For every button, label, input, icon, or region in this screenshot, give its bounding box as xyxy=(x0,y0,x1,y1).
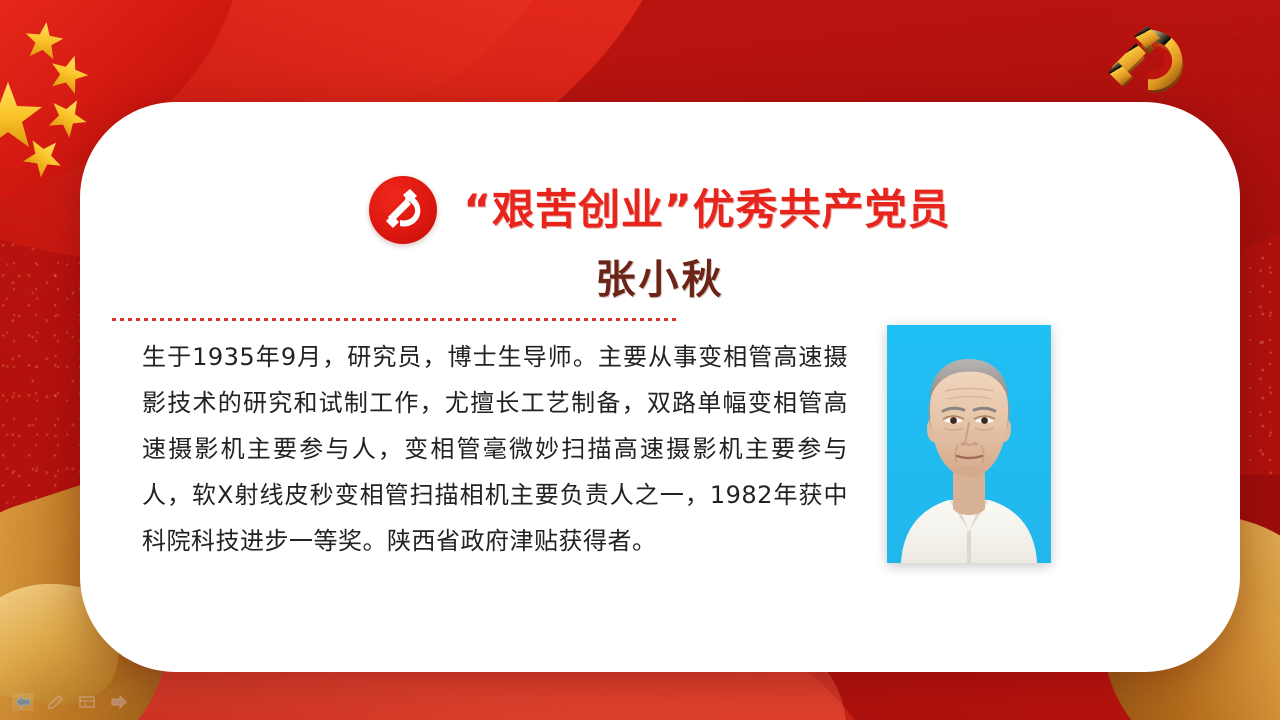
page-subtitle: 张小秋 xyxy=(80,260,1240,300)
party-emblem-gold-icon xyxy=(1094,22,1204,100)
biography-text: 生于1935年9月，研究员，博士生导师。主要从事变相管高速摄影技术的研究和试制工… xyxy=(142,334,848,564)
arrow-left-icon[interactable] xyxy=(12,693,34,711)
slideshow-toolbar[interactable] xyxy=(6,690,136,714)
slides-menu-icon[interactable] xyxy=(76,693,98,711)
presentation-slide: “艰苦创业”优秀共产党员 张小秋 生于1935年9月，研究员，博士生导师。主要从… xyxy=(0,0,1280,720)
page-title: “艰苦创业”优秀共产党员 xyxy=(463,189,950,231)
content-card: “艰苦创业”优秀共产党员 张小秋 生于1935年9月，研究员，博士生导师。主要从… xyxy=(80,102,1240,672)
portrait-photo xyxy=(887,325,1051,563)
arrow-right-icon[interactable] xyxy=(108,693,130,711)
slide-header: “艰苦创业”优秀共产党员 张小秋 xyxy=(80,176,1240,300)
title-row: “艰苦创业”优秀共产党员 xyxy=(80,176,1240,244)
party-emblem-hammer-sickle-icon xyxy=(369,176,437,244)
dotted-divider xyxy=(112,318,680,321)
pen-icon[interactable] xyxy=(44,693,66,711)
